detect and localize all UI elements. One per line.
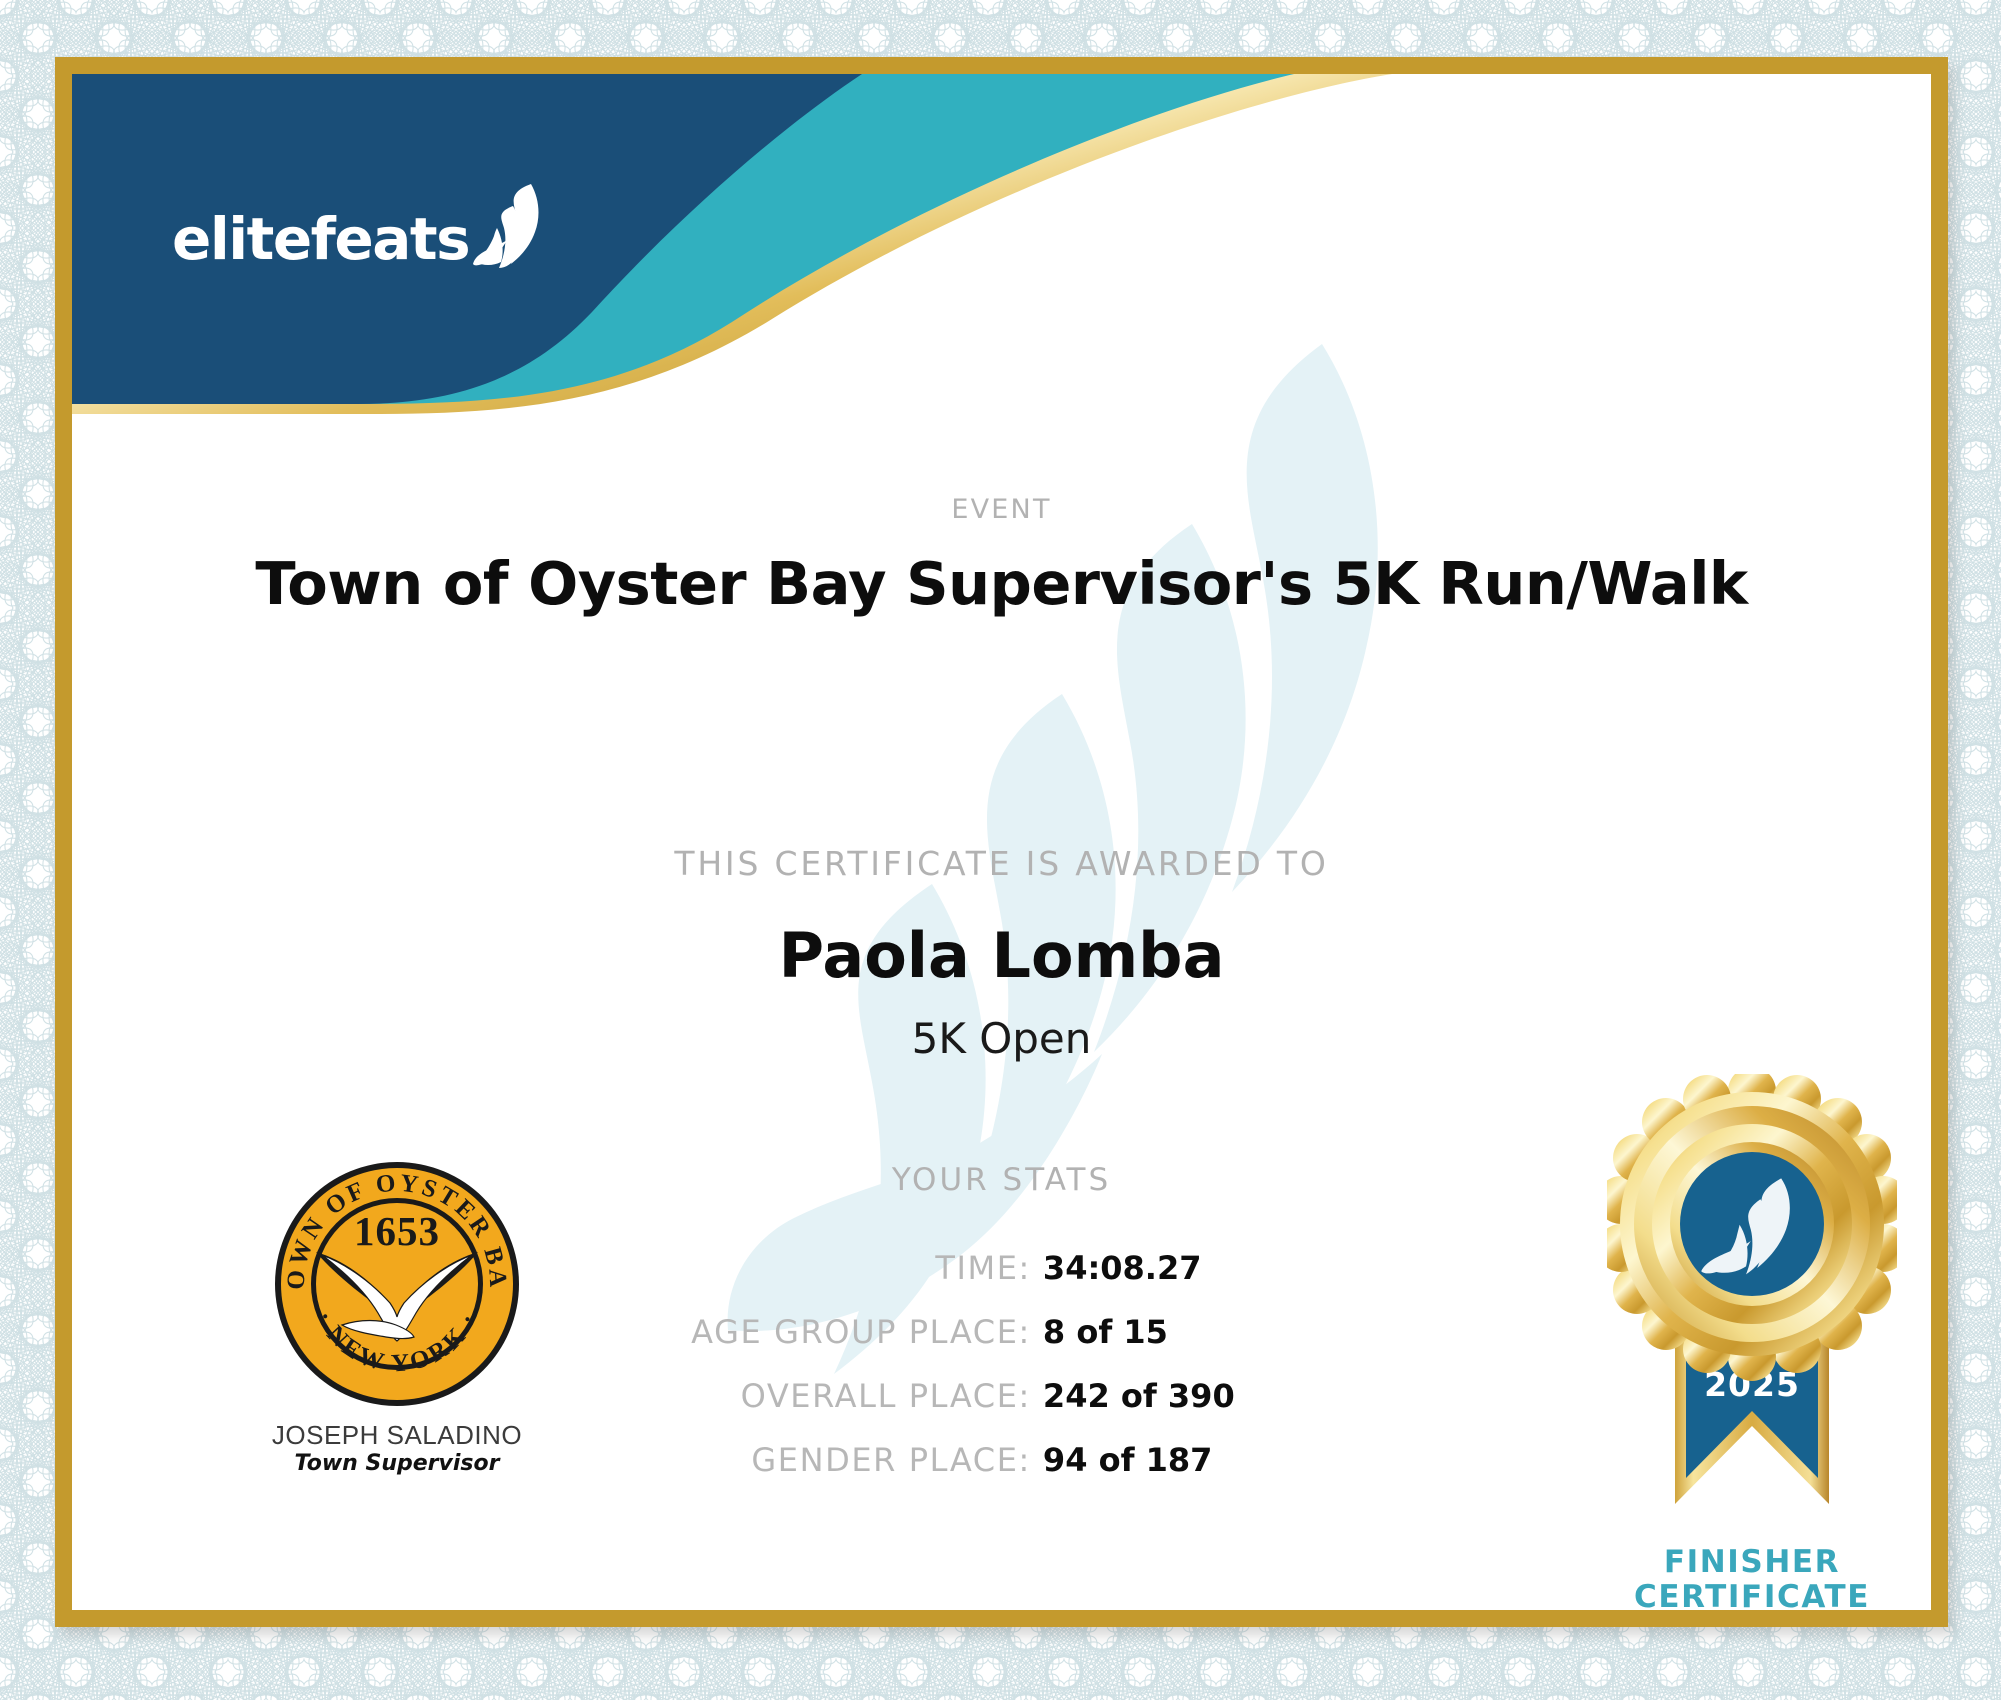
certificate-page: elitefeats EVENT Town of Oyster Bay Supe… (0, 0, 2001, 1700)
awarded-to-label: THIS CERTIFICATE IS AWARDED TO (72, 844, 1931, 883)
division-name: 5K Open (72, 1014, 1931, 1063)
certificate-frame: elitefeats EVENT Town of Oyster Bay Supe… (55, 57, 1948, 1627)
certificate-body: elitefeats EVENT Town of Oyster Bay Supe… (72, 74, 1931, 1610)
stat-row: GENDER PLACE: 94 of 187 (632, 1441, 1382, 1479)
stats-table: TIME: 34:08.27 AGE GROUP PLACE: 8 of 15 … (632, 1249, 1382, 1505)
stat-label-gender-place: GENDER PLACE: (632, 1441, 1031, 1479)
stat-value-gender-place: 94 of 187 (1031, 1441, 1382, 1479)
winged-foot-icon (473, 182, 547, 268)
stat-value-age-group-place: 8 of 15 (1031, 1313, 1382, 1351)
finisher-certificate-caption: FINISHER CERTIFICATE (1572, 1545, 1931, 1610)
stat-label-age-group-place: AGE GROUP PLACE: (632, 1313, 1031, 1351)
caption-line-1: FINISHER (1572, 1545, 1931, 1580)
town-seal-block: TOWN OF OYSTER BAY · NEW YORK · 1653 (232, 1159, 562, 1476)
svg-text:1653: 1653 (354, 1208, 440, 1254)
caption-line-2: CERTIFICATE (1572, 1580, 1931, 1610)
event-title: Town of Oyster Bay Supervisor's 5K Run/W… (72, 549, 1931, 618)
stat-value-overall-place: 242 of 390 (1031, 1377, 1382, 1415)
recipient-name: Paola Lomba (72, 919, 1931, 992)
stat-row: OVERALL PLACE: 242 of 390 (632, 1377, 1382, 1415)
stat-row: TIME: 34:08.27 (632, 1249, 1382, 1287)
event-label: EVENT (72, 494, 1931, 525)
elitefeats-logo: elitefeats (172, 182, 547, 268)
logo-wordmark: elitefeats (172, 210, 469, 268)
stat-row: AGE GROUP PLACE: 8 of 15 (632, 1313, 1382, 1351)
stat-value-time: 34:08.27 (1031, 1249, 1382, 1287)
stat-label-overall-place: OVERALL PLACE: (632, 1377, 1031, 1415)
signatory-role: Town Supervisor (232, 1451, 562, 1476)
finisher-medal-icon: 2025 (1607, 1074, 1897, 1534)
town-of-oyster-bay-seal-icon: TOWN OF OYSTER BAY · NEW YORK · 1653 (272, 1159, 522, 1409)
finisher-medal-block: 2025 (1572, 1074, 1931, 1610)
signatory-name: JOSEPH SALADINO (232, 1420, 562, 1451)
stat-label-time: TIME: (632, 1249, 1031, 1287)
